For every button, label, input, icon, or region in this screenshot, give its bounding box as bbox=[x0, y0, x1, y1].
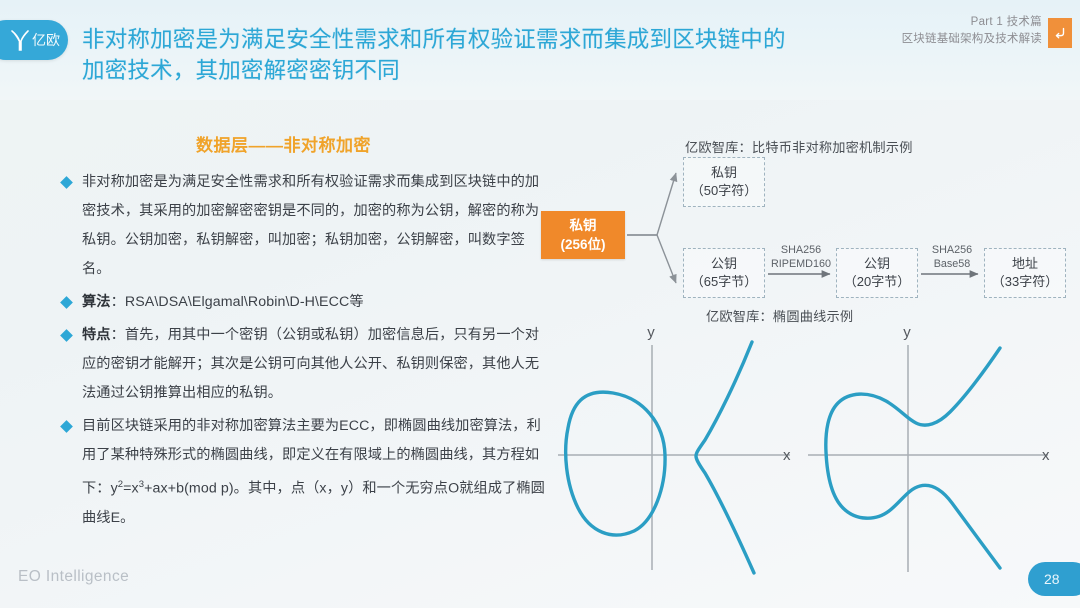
list-item: 目前区块链采用的非对称加密算法主要为ECC，即椭圆曲线加密算法，利用了某种特殊形… bbox=[62, 412, 552, 533]
bullet-body: ：首先，用其中一个密钥（公钥或私钥）加密信息后，只有另一个对应的密钥才能解开；其… bbox=[82, 327, 539, 401]
slide-canvas: 亿欧 非对称加密是为满足安全性需求和所有权验证需求而集成到区块链中的加密技术，其… bbox=[0, 0, 1080, 608]
flow-arrow-to-private-key bbox=[627, 173, 676, 235]
flow-node-line1: 私钥 bbox=[711, 164, 737, 182]
diamond-bullet-icon bbox=[60, 420, 73, 433]
flow-node-address-33: 地址 （33字符） bbox=[984, 248, 1066, 298]
bullet-list: 非对称加密是为满足安全性需求和所有权验证需求而集成到区块链中的加密技术，其采用的… bbox=[62, 168, 552, 537]
flow-node-line2: （65字节） bbox=[691, 273, 757, 291]
y-axis-label-right: y bbox=[903, 324, 911, 341]
curve-panel-left: y x bbox=[558, 324, 791, 573]
bullet-text: 特点：首先，用其中一个密钥（公钥或私钥）加密信息后，只有另一个对应的密钥才能解开… bbox=[82, 321, 552, 408]
header-meta: Part 1 技术篇 区块链基础架构及技术解读 bbox=[902, 14, 1042, 48]
flow-node-public-key-20: 公钥 （20字节） bbox=[836, 248, 918, 298]
diamond-bullet-icon bbox=[60, 176, 73, 189]
flow-node-line1: 公钥 bbox=[864, 255, 890, 273]
list-item: 非对称加密是为满足安全性需求和所有权验证需求而集成到区块链中的加密技术，其采用的… bbox=[62, 168, 552, 284]
page-title: 非对称加密是为满足安全性需求和所有权验证需求而集成到区块链中的加密技术，其加密解… bbox=[82, 24, 802, 86]
edge-label-line2: Base58 bbox=[919, 257, 985, 271]
section-heading: 数据层——非对称加密 bbox=[196, 131, 371, 156]
edge-label-line1: SHA256 bbox=[919, 243, 985, 257]
curve-chart-title: 亿欧智库：椭圆曲线示例 bbox=[706, 306, 853, 325]
header-part-label: Part 1 技术篇 bbox=[902, 14, 1042, 31]
edge-label-line1: SHA256 bbox=[766, 243, 836, 257]
curve-left-branch bbox=[696, 342, 754, 573]
flow-diagram-title: 亿欧智库：比特币非对称加密机制示例 bbox=[685, 137, 913, 156]
bullet-text: 算法：RSA\DSA\Elgamal\Robin\D-H\ECC等 bbox=[82, 288, 552, 317]
flow-edge-label-sha256-base58: SHA256 Base58 bbox=[919, 243, 985, 271]
bullet-label: 算法 bbox=[82, 294, 111, 310]
bullet-body-c: +ax+b(mod p)。其中，点（x，y）和一个无穷点O就组成了椭圆曲线E。 bbox=[82, 481, 545, 526]
header-section-label: 区块链基础架构及技术解读 bbox=[902, 31, 1042, 48]
x-axis-label-right: x bbox=[1042, 447, 1050, 464]
curve-left-oval bbox=[566, 392, 665, 535]
bullet-text: 非对称加密是为满足安全性需求和所有权验证需求而集成到区块链中的加密技术，其采用的… bbox=[82, 168, 552, 284]
flow-node-private-key-source: 私钥 (256位) bbox=[541, 211, 625, 259]
flow-node-line2: (256位) bbox=[560, 235, 605, 254]
flow-node-line1: 公钥 bbox=[711, 255, 737, 273]
list-item: 特点：首先，用其中一个密钥（公钥或私钥）加密信息后，只有另一个对应的密钥才能解开… bbox=[62, 321, 552, 408]
curve-right-branch bbox=[826, 348, 1000, 568]
flow-edge-label-sha256-ripemd160: SHA256 RIPEMD160 bbox=[766, 243, 836, 271]
footer-brand: EO Intelligence bbox=[18, 568, 129, 586]
flow-node-line2: （50字符） bbox=[691, 182, 757, 200]
bullet-text: 目前区块链采用的非对称加密算法主要为ECC，即椭圆曲线加密算法，利用了某种特殊形… bbox=[82, 412, 552, 533]
brand-logo-text: 亿欧 bbox=[32, 30, 60, 50]
page-number-badge: 28 bbox=[1028, 562, 1080, 596]
edge-label-line2: RIPEMD160 bbox=[766, 257, 836, 271]
bullet-label: 特点 bbox=[82, 327, 111, 343]
flow-node-line2: （33字符） bbox=[992, 273, 1058, 291]
list-item: 算法：RSA\DSA\Elgamal\Robin\D-H\ECC等 bbox=[62, 288, 552, 317]
flow-node-public-key-65: 公钥 （65字节） bbox=[683, 248, 765, 298]
curve-panel-right: y x bbox=[808, 324, 1050, 572]
eo-leaf-logo-icon bbox=[10, 29, 29, 51]
diamond-bullet-icon bbox=[60, 296, 73, 309]
flow-node-line2: （20字节） bbox=[844, 273, 910, 291]
flow-arrow-to-public-key bbox=[627, 235, 676, 283]
flow-node-line1: 私钥 bbox=[570, 216, 597, 235]
flow-node-line1: 地址 bbox=[1012, 255, 1038, 273]
x-axis-label-left: x bbox=[783, 447, 791, 464]
return-arrow-icon bbox=[1048, 18, 1072, 48]
diamond-bullet-icon bbox=[60, 329, 73, 342]
bullet-body: ：RSA\DSA\Elgamal\Robin\D-H\ECC等 bbox=[111, 294, 364, 310]
brand-logo: 亿欧 bbox=[0, 20, 68, 60]
flow-node-private-key-50: 私钥 （50字符） bbox=[683, 157, 765, 207]
y-axis-label-left: y bbox=[647, 324, 655, 341]
bullet-body-b: =x bbox=[123, 481, 139, 497]
